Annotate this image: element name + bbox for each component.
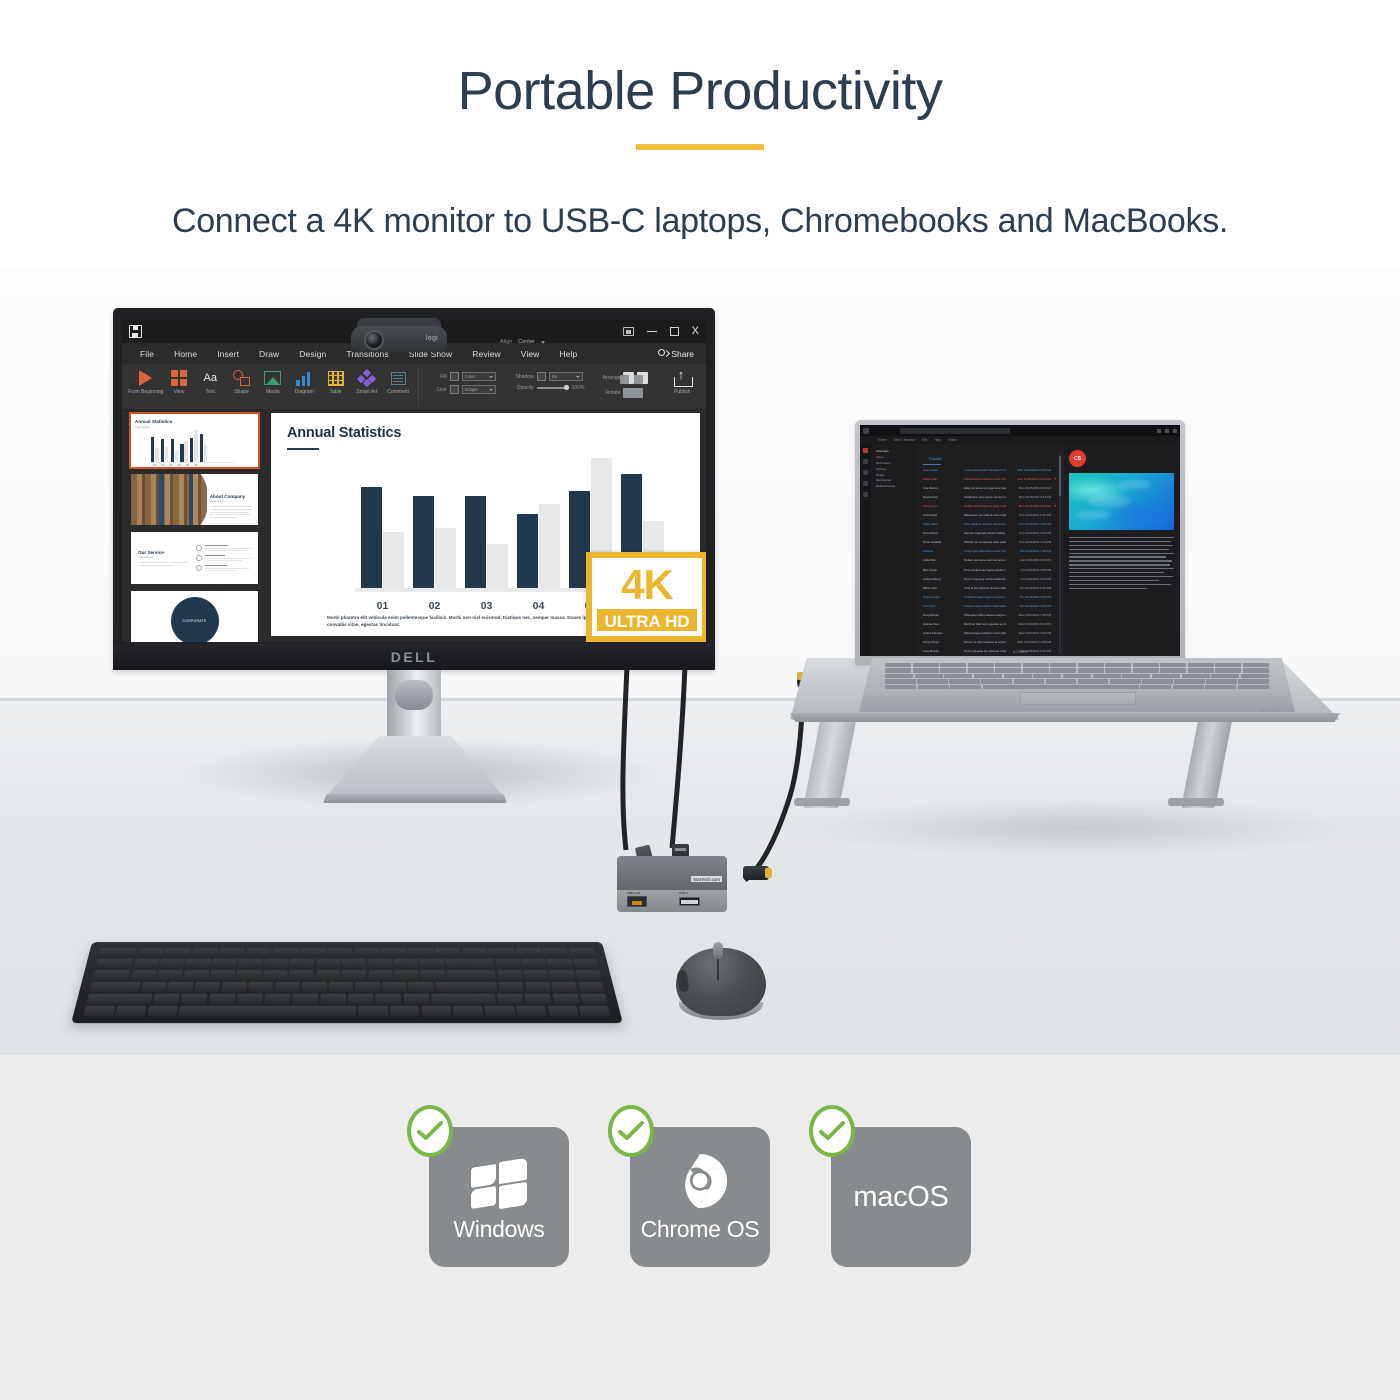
received-date: Sat 11/13/2021 7:40 PM	[1009, 549, 1051, 553]
dell-monitor: logi PowerPoint X	[113, 308, 715, 670]
ribbon-label: View	[174, 390, 185, 396]
rotate-button[interactable]	[623, 388, 643, 398]
mail-list-item[interactable]: Lynn JonesLorem ipsum dolor sit amet con…	[917, 465, 1062, 474]
slide-thumbnail-1[interactable]: Annual Statistics Lorem ipsum	[131, 414, 258, 467]
maximize-window-icon[interactable]	[670, 327, 679, 336]
ribbon-diagram-button[interactable]: Diagram	[289, 368, 320, 396]
mail-list-item[interactable]: David ChenVestibulum ante ipsum primis i…	[917, 492, 1062, 501]
subject-line: Donec mi odio faucibus at scelerisque qu…	[964, 640, 1006, 644]
riser-right-leg	[1181, 716, 1233, 808]
sender-name: Ben Foster	[923, 568, 961, 572]
received-date: Wed 11/10/2021 3:06 PM	[1009, 631, 1051, 635]
webcam-lens-icon	[364, 330, 384, 350]
ribbon-text-button[interactable]: Aa Text	[195, 368, 226, 396]
thumbnail-subtitle: Lorem ipsum	[138, 556, 188, 559]
tab-view[interactable]: View	[511, 349, 550, 359]
opacity-control-row: Opacity 100%	[504, 385, 585, 391]
badge-inner-frame: 4K ULTRA HD	[592, 558, 702, 636]
bar-chart-icon	[296, 368, 312, 388]
mail-list-item[interactable]: Liam BrooksNunc vulputate leo placerat n…	[917, 647, 1062, 656]
shadow-swatch[interactable]	[537, 372, 546, 381]
mail-list-item[interactable]: Tanya SinghDonec mi odio faucibus at sce…	[917, 638, 1062, 647]
received-date: Mon 11/15/2021 9:07 AM	[1009, 486, 1051, 490]
mail-list-item[interactable]: Andrea WongNunc nonummy metus vestibulum…	[917, 574, 1062, 583]
received-date: Sun 11/14/2021 4:55 PM	[1009, 522, 1051, 526]
opacity-slider[interactable]	[537, 387, 569, 388]
fill-value: Color	[465, 374, 475, 379]
os-card-macos: macOS	[831, 1127, 971, 1267]
ethernet-port-label: GBE LAN	[627, 891, 640, 895]
wireless-mouse[interactable]	[673, 940, 769, 1026]
page-subtitle: Connect a 4K monitor to USB-C laptops, C…	[0, 202, 1400, 241]
line-color-swatch[interactable]	[450, 385, 459, 394]
chart-xtick: 01	[361, 600, 404, 612]
os-label-macos: macOS	[853, 1181, 948, 1214]
line-label: Line	[423, 387, 447, 393]
mail-list-item[interactable]: Chris PatelMaecenas nec odio et ante tin…	[917, 510, 1062, 519]
mail-window-controls	[1157, 429, 1177, 433]
bar-group-02	[413, 458, 456, 587]
mail-list-item[interactable]: Julia ParkNullam quis ante etiam sit ame…	[917, 556, 1062, 565]
shadow-label: Shadow	[504, 374, 534, 380]
share-label: Share	[671, 349, 694, 359]
comment-icon	[391, 368, 406, 388]
tasks-icon[interactable]	[863, 481, 868, 486]
subject-line: Phasellus nulla praesent augue integer p…	[964, 613, 1006, 617]
thumb-cat: 03	[170, 464, 173, 467]
mail-list-scrollbar[interactable]	[1059, 452, 1061, 654]
align-control-group: Align Center	[500, 339, 545, 345]
list-item	[196, 555, 251, 561]
badge-ultra-text: ULTRA	[605, 612, 665, 631]
list-item	[196, 545, 251, 551]
sender-name: Ines Cruz	[923, 604, 961, 608]
mail-list-item[interactable]: Project TeamCurabitur ligula sapien tinc…	[917, 592, 1062, 601]
publish-label: Publish	[674, 390, 690, 396]
mail-ribbon-tabs: Home Send / Receive File Help Folder	[860, 436, 1180, 444]
ribbon-label: Table	[330, 390, 342, 396]
search-input[interactable]	[900, 428, 1010, 434]
sender-name: David Chen	[923, 495, 961, 499]
ribbon-view-button[interactable]: View	[163, 368, 194, 396]
sender-name: Chris Patel	[923, 513, 961, 517]
sender-name: Ana Ramos	[923, 486, 961, 490]
bar-series1	[413, 496, 434, 588]
tab-review[interactable]: Review	[462, 349, 510, 359]
windows-flag-icon	[468, 1152, 530, 1210]
tab-home[interactable]: Home	[164, 349, 207, 359]
thumb-cat: 05	[186, 464, 189, 467]
slide-thumbnail-2[interactable]: About Company Lorem ipsum	[131, 474, 258, 525]
received-date: Wed 11/10/2021 7:55 PM	[1009, 613, 1051, 617]
tab-help[interactable]: Help	[549, 349, 587, 359]
folder-deleted-items[interactable]: Deleted Items	[876, 484, 914, 490]
mail-list-item[interactable]: Ana RamosEtiam sit amet orci eget eros f…	[917, 483, 1062, 492]
bar-series1	[517, 514, 538, 588]
share-person-icon	[658, 349, 668, 359]
mail-list-item[interactable]: Mark ListerCras id dui vivamus laoreet n…	[917, 583, 1062, 592]
more-icon[interactable]	[863, 492, 868, 497]
ribbon-label: Smart Art	[356, 390, 377, 396]
laptop-trackpad[interactable]	[1020, 692, 1136, 705]
avatar: CS	[1069, 450, 1086, 467]
shadow-control-row: Shadow No	[504, 372, 585, 381]
received-date: Wed 11/10/2021 11:48 AM	[1009, 640, 1051, 644]
received-date: Thu 11/11/2021 3:18 PM	[1009, 595, 1051, 599]
mail-main-area: Favorites Inbox Sent Items Archive Draft…	[860, 444, 1180, 656]
subject-line: Pellentesque habitant morbi tristique se…	[964, 631, 1006, 635]
sender-name: Tanya Singh	[923, 640, 961, 644]
tab-file[interactable]: File	[130, 349, 164, 359]
sender-name: Nina Weber	[923, 531, 961, 535]
riser-right-foot	[1168, 798, 1224, 806]
mail-reading-pane: CS	[1062, 444, 1180, 656]
thumbnail-chart-axis	[149, 462, 235, 464]
thumbnail-title: CORPORATE	[171, 597, 219, 642]
mail-list-item[interactable]: Ben FosterProin pretium leo ligula portt…	[917, 565, 1062, 574]
mail-tab-home[interactable]: Home	[878, 438, 887, 442]
received-date: Sun 11/14/2021 6:18 PM	[1009, 513, 1051, 517]
text-aa-icon: Aa	[204, 368, 217, 388]
align-value[interactable]: Center	[518, 339, 535, 345]
mail-tab-folder[interactable]: Folder	[948, 438, 957, 442]
opacity-label: Opacity	[504, 385, 534, 391]
fill-control-row: Fill Color	[423, 372, 496, 381]
subject-line: Aenean vulputate eleifend tellus aenean …	[964, 531, 1006, 535]
chrome-icon	[669, 1152, 731, 1210]
ribbon-smart-art-button[interactable]: Smart Art	[351, 368, 382, 396]
ribbon-toolbar: From Beginning View Aa Text Shape	[122, 364, 706, 410]
tab-insert[interactable]: Insert	[207, 349, 249, 359]
thumb-cat: 02	[161, 464, 164, 467]
received-date: Thu 11/11/2021 6:30 PM	[1009, 586, 1051, 590]
usb-c-connector-head	[743, 866, 769, 880]
ribbon-from-beginning-button[interactable]: From Beginning	[128, 368, 163, 396]
os-card-chrome-os: Chrome OS	[630, 1127, 770, 1267]
bar-series1	[361, 487, 382, 588]
webcam-brand-label: logi	[426, 335, 438, 342]
bar-group-01	[361, 458, 404, 587]
mail-tab-help[interactable]: Help	[934, 438, 941, 442]
keyboard-row-numbers	[95, 959, 599, 968]
page-title: Portable Productivity	[0, 62, 1400, 121]
mail-list-item[interactable]: Helena VossMorbi ac felis nunc egestas e…	[917, 620, 1062, 629]
opacity-value: 100%	[572, 385, 585, 391]
mail-list-item[interactable]: Nina WeberAenean vulputate eleifend tell…	[917, 529, 1062, 538]
fill-color-swatch[interactable]	[450, 372, 459, 381]
monitor-stand-base-front	[323, 794, 507, 803]
chart-xtick: 02	[413, 600, 456, 612]
subject-line: Porttitor eu consequat vitae eleifend ac…	[964, 540, 1006, 544]
keyboard-row-asdf	[89, 982, 604, 992]
keyboard-row-zxcv	[86, 994, 607, 1004]
keyboard-keys[interactable]	[83, 948, 611, 1016]
ribbon-label: Comment	[387, 390, 409, 396]
chevron-down-icon	[489, 376, 493, 378]
mail-app: Home Send / Receive File Help Folder	[860, 425, 1180, 656]
header: Portable Productivity Connect a 4K monit…	[0, 0, 1400, 241]
os-label-windows: Windows	[453, 1216, 544, 1243]
thumb-cat: 01	[153, 464, 156, 467]
chevron-down-icon[interactable]	[541, 341, 545, 344]
ribbon-comment-button[interactable]: Comment	[382, 368, 413, 396]
publish-button[interactable]: Publish	[664, 368, 700, 396]
subject-line: Lorem quis bibendum auctor nisi elit con…	[964, 549, 1006, 553]
bullet-circle-icon	[196, 545, 202, 551]
laptop-keyboard[interactable]	[885, 663, 1269, 689]
product-scene-photo: logi PowerPoint X	[0, 268, 1400, 1055]
thumbnail-title: Annual Statistics	[135, 419, 254, 424]
minimize-window-icon[interactable]	[647, 331, 657, 332]
mail-list-item[interactable]: Carlos MendesPellentesque habitant morbi…	[917, 629, 1062, 638]
sender-name: Liam Brooks	[923, 649, 961, 653]
thumbnail-chart-labels: 01 02 03 04 05 06	[135, 464, 254, 467]
sender-name: Lynn Jones	[923, 468, 961, 472]
keyboard-row-qwerty	[92, 970, 602, 980]
sender-name: Andrea Wong	[923, 577, 961, 581]
subject-line: Nunc vulputate leo placerat nulla facili…	[964, 649, 1006, 653]
close-window-icon[interactable]	[1173, 429, 1177, 433]
subject-line: Maecenas nec odio et ante tincidunt temp…	[964, 513, 1006, 517]
sender-name: Marco Diaz	[923, 477, 961, 481]
thumbnail-title: Our Service	[138, 550, 188, 555]
shape-icon	[233, 368, 250, 388]
mail-list-item[interactable]: Sara LopezNullam dictum felis eu pede mo…	[917, 501, 1062, 510]
check-badge-icon	[608, 1105, 654, 1157]
monitor-chin: DELL	[113, 644, 715, 670]
bar-series1	[465, 496, 486, 588]
sender-name: Omar Haddad	[923, 540, 961, 544]
ethernet-port	[627, 896, 647, 907]
laptop-deck-brand: ACORN	[1260, 708, 1281, 714]
keyboard-row-function	[98, 948, 596, 957]
mail-icon[interactable]	[863, 448, 868, 453]
mail-folder-list[interactable]: Favorites Inbox Sent Items Archive Draft…	[871, 444, 917, 656]
badge-ultra-hd-text: ULTRA HD	[605, 609, 690, 632]
thumb-cat: 06	[194, 464, 197, 467]
ribbon-label: Diagram	[295, 390, 314, 396]
line-dropdown[interactable]: Simple	[462, 385, 496, 394]
email-body-text	[1069, 537, 1174, 589]
tab-design[interactable]: Design	[289, 349, 336, 359]
received-date: Mon 11/15/2021 10:21 AM	[1009, 477, 1051, 481]
bullet-circle-icon	[196, 565, 202, 571]
slide-thumbnail-3[interactable]: Our Service Lorem ipsum	[131, 532, 258, 583]
chevron-down-icon	[489, 389, 493, 391]
ribbon-label: Text	[206, 390, 215, 396]
arrange-control-row: Arrange	[594, 372, 648, 384]
mail-message-list[interactable]: Focused Lynn JonesLorem ipsum dolor sit …	[917, 444, 1062, 656]
startech-usb-c-hub: StarTech.com GBE LAN USB-A	[617, 846, 793, 918]
subject-line: Cras dapibus vivamus elementum semper ni…	[964, 522, 1006, 526]
mail-list-item[interactable]: Team SalesCras dapibus vivamus elementum…	[917, 520, 1062, 529]
subject-line: Lorem ipsum dolor sit amet consectetur a…	[964, 468, 1006, 472]
slide-title: Annual Statistics	[287, 425, 684, 441]
bar-series2	[539, 504, 560, 588]
ribbon-table-button[interactable]: Table	[320, 368, 351, 396]
4k-ultra-hd-badge: 4K ULTRA HD	[586, 552, 706, 642]
play-icon	[139, 368, 152, 388]
arrange-group: Arrange Rotate	[594, 368, 648, 398]
mouse-scroll-wheel[interactable]	[713, 942, 723, 959]
check-badge-icon	[407, 1105, 453, 1157]
chart-xtick: 03	[465, 600, 508, 612]
close-window-icon[interactable]: X	[692, 326, 699, 337]
received-date: Sun 11/14/2021 1:12 PM	[1009, 540, 1051, 544]
laptop-base: ACORN	[845, 658, 1305, 720]
publish-upload-icon	[674, 368, 691, 388]
os-card-windows: Windows	[429, 1127, 569, 1267]
received-date: Sun 11/14/2021 3:30 PM	[1009, 531, 1051, 535]
arrange-buttons[interactable]	[623, 372, 648, 384]
email-hero-image	[1069, 473, 1174, 530]
monitor-stand-hinge	[395, 680, 433, 710]
sender-name: Project Team	[923, 595, 961, 599]
mail-tab-send-receive[interactable]: Send / Receive	[894, 438, 916, 442]
list-item	[196, 565, 251, 571]
tab-draw[interactable]: Draw	[249, 349, 289, 359]
received-date: Mon 11/15/2021 11:42 AM	[1009, 468, 1051, 472]
ribbon-media-button[interactable]: Media	[257, 368, 288, 396]
flag-icon[interactable]: ⚑	[1054, 504, 1058, 508]
subject-line: Nullam quis ante etiam sit amet orci ege…	[964, 558, 1006, 562]
hub-brand-label: StarTech.com	[691, 876, 722, 882]
maximize-window-icon[interactable]	[1165, 429, 1169, 433]
usb-a-port	[679, 897, 700, 906]
restore-window-icon[interactable]	[623, 327, 634, 336]
subject-line: Etiam sit amet orci eget eros faucibus t…	[964, 486, 1006, 490]
logitech-webcam: logi	[351, 318, 447, 352]
chevron-down-icon	[576, 376, 580, 378]
os-label-chrome-os: Chrome OS	[641, 1216, 760, 1243]
sender-name: Helena Voss	[923, 622, 961, 626]
flag-icon[interactable]: ⚑	[1054, 477, 1058, 481]
bar-series2	[487, 544, 508, 588]
subject-line: Cras id dui vivamus laoreet nullam tempu…	[964, 586, 1006, 590]
laptop-screen-brand: ACORN	[1013, 649, 1027, 654]
chart-xtick: 04	[517, 600, 560, 612]
line-value: Simple	[465, 387, 478, 392]
people-icon[interactable]	[863, 470, 868, 475]
received-date: Fri 11/12/2021 2:47 PM	[1009, 577, 1051, 581]
ribbon-label: Shape	[234, 390, 248, 396]
minimize-window-icon[interactable]	[1157, 429, 1161, 433]
rotate-control-row: Rotate	[594, 388, 648, 398]
bar-series2	[383, 532, 404, 588]
ribbon-label: Media	[266, 390, 280, 396]
thumbnail-subtitle: Lorem ipsum	[210, 500, 252, 503]
focused-tab[interactable]: Focused	[923, 457, 941, 465]
share-button[interactable]: Share	[658, 349, 698, 359]
window-controls: X	[623, 326, 699, 337]
subject-line: Nullam dictum felis eu pede mollis preti…	[964, 504, 1006, 508]
mail-list-item[interactable]: Marco DiazPellentesque habitant morbi tr…	[917, 474, 1062, 483]
ribbon-shape-button[interactable]: Shape	[226, 368, 257, 396]
os-compatibility-bar: Windows Chrome OS	[0, 1055, 1400, 1400]
thumbnail-title: About Company	[210, 494, 252, 499]
received-date: Fri 11/12/2021 4:09 PM	[1009, 568, 1051, 572]
subject-line: Morbi ac felis nunc egestas eu pharetra …	[964, 622, 1006, 626]
os-card-row: Windows Chrome OS	[0, 1055, 1400, 1267]
bullet-circle-icon	[196, 555, 202, 561]
align-label: Align	[500, 339, 512, 345]
received-date: Mon 11/15/2021 8:02 AM	[1009, 504, 1051, 508]
riser-left-foot	[794, 798, 850, 806]
wireless-keyboard[interactable]	[82, 936, 612, 1026]
mouse-body[interactable]	[676, 948, 766, 1016]
mail-list-item[interactable]: Greg NovakPhasellus nulla praesent augue…	[917, 611, 1062, 620]
subject-line: Fusce a quam morbi mollis tellus ac sapi…	[964, 604, 1006, 608]
laptop-screen: Home Send / Receive File Help Folder	[860, 425, 1180, 656]
shadow-value: No	[552, 374, 558, 379]
sender-name: Team Sales	[923, 522, 961, 526]
ribbon-divider	[418, 368, 419, 406]
badge-hd-text: HD	[665, 612, 690, 631]
received-date: Sat 11/13/2021 5:21 PM	[1009, 558, 1051, 562]
grid-icon	[171, 368, 187, 388]
dell-logo: DELL	[391, 649, 438, 665]
media-image-icon	[264, 368, 281, 388]
rotate-label: Rotate	[594, 390, 620, 396]
badge-4k-text: 4K	[597, 562, 697, 609]
mail-tab-file[interactable]: File	[922, 438, 927, 442]
sender-name: Greg Novak	[923, 613, 961, 617]
thumbnail-chart	[135, 429, 254, 462]
check-badge-icon	[809, 1105, 855, 1157]
sender-name: Sara Lopez	[923, 504, 961, 508]
sender-name: Mark Lister	[923, 586, 961, 590]
monitor-bezel: PowerPoint X Align Center	[113, 308, 715, 670]
fill-label: Fill	[423, 374, 447, 380]
shadow-dropdown[interactable]: No	[549, 372, 583, 381]
received-date: Mon 11/15/2021 8:44 AM	[1009, 495, 1051, 499]
subject-line: Curabitur ligula sapien tincidunt non ve…	[964, 595, 1006, 599]
subject-line: Pellentesque habitant morbi tristique se…	[964, 477, 1006, 481]
bar-group-03	[465, 458, 508, 587]
sender-name: Carlos Mendes	[923, 631, 961, 635]
slide-title-rule	[287, 448, 319, 450]
usb-c-laptop: Home Send / Receive File Help Folder	[845, 420, 1305, 665]
calendar-icon[interactable]	[863, 459, 868, 464]
table-grid-icon	[328, 368, 344, 388]
subject-line: Proin pretium leo ligula porttitor metus…	[964, 568, 1006, 572]
riser-left-leg	[803, 716, 857, 808]
line-control-row: Line Simple	[423, 385, 496, 394]
keyboard-row-space	[83, 1006, 611, 1016]
mail-nav-rail[interactable]	[860, 444, 871, 656]
mail-list-item[interactable]: FinanceLorem quis bibendum auctor nisi e…	[917, 547, 1062, 556]
received-date: Wed 11/10/2021 5:14 PM	[1009, 622, 1051, 626]
thumb-cat: 04	[178, 464, 181, 467]
mail-app-icon	[863, 428, 869, 434]
shelf-beam	[159, 474, 164, 525]
effects-group: Shadow No Opacity 100%	[504, 368, 585, 391]
mail-titlebar	[860, 425, 1180, 436]
subject-line: Nunc nonummy metus vestibulum volutpat n…	[964, 577, 1006, 581]
mail-list-item[interactable]: Omar HaddadPorttitor eu consequat vitae …	[917, 538, 1062, 547]
bar-group-04	[517, 458, 560, 587]
warehouse-photo	[131, 474, 207, 525]
thumbnail-text-block: About Company Lorem ipsum	[210, 494, 252, 518]
slide-thumbnail-4[interactable]: CORPORATE	[131, 591, 258, 642]
monitor-screen: PowerPoint X Align Center	[122, 320, 706, 642]
slide-thumbnail-pane[interactable]: Annual Statistics Lorem ipsum	[122, 410, 268, 642]
mail-list-item[interactable]: Ines CruzFusce a quam morbi mollis tellu…	[917, 601, 1062, 610]
laptop-lid: Home Send / Receive File Help Folder	[855, 420, 1185, 665]
fill-dropdown[interactable]: Color	[462, 372, 496, 381]
bar-series2	[435, 528, 456, 588]
received-date: Thu 11/11/2021 1:02 PM	[1009, 604, 1051, 608]
